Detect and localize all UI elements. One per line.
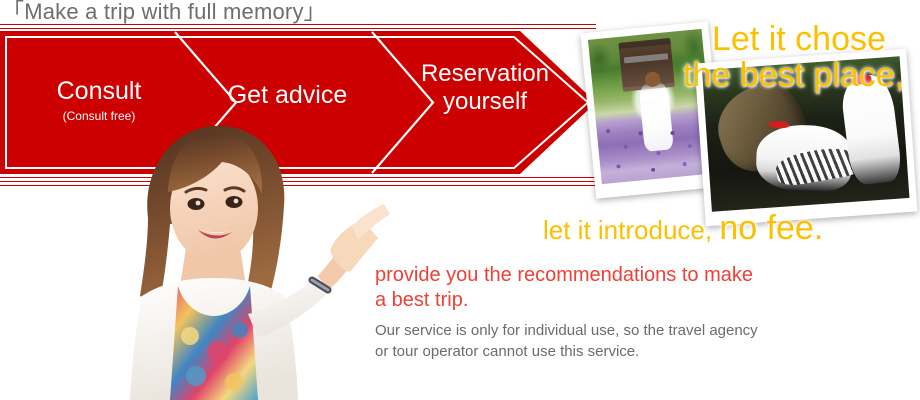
photo-lavender-blooms <box>595 107 715 184</box>
step-reservation-label-line2: yourself <box>395 88 575 116</box>
page-title: 「Make a trip with full memory」 <box>2 0 326 25</box>
model-cutout <box>122 100 392 400</box>
step-reservation-label-line1: Reservation <box>395 60 575 88</box>
promo-copy-red-line1: provide you the recommendations to make <box>375 263 753 288</box>
smiling-woman-pointing-icon <box>122 100 392 400</box>
highlight-line-1: Let it chose <box>712 20 886 59</box>
highlight-line-2: the best place, <box>683 56 904 95</box>
highlight-line-3-small: let it introduce, <box>543 215 719 245</box>
promo-copy-gray-line2: or tour operator cannot use this service… <box>375 341 758 362</box>
promo-copy-red-line2: a best trip. <box>375 288 753 313</box>
promo-banner-stage: 「Make a trip with full memory」 Consult (… <box>0 0 920 400</box>
banner-rule-top-2 <box>0 28 596 29</box>
photo-image-lavender <box>588 29 715 184</box>
promo-copy-gray-line1: Our service is only for individual use, … <box>375 320 758 341</box>
photo-woman-arm-left <box>646 99 655 108</box>
highlight-line-3-big: no fee. <box>719 209 823 247</box>
banner-step-reservation: Reservation yourself <box>395 60 575 117</box>
highlight-line-3: let it introduce, no fee. <box>543 209 823 248</box>
promo-copy-red: provide you the recommendations to make … <box>375 263 753 313</box>
promo-copy-gray: Our service is only for individual use, … <box>375 320 758 362</box>
banner-rule-top-1 <box>0 24 596 25</box>
